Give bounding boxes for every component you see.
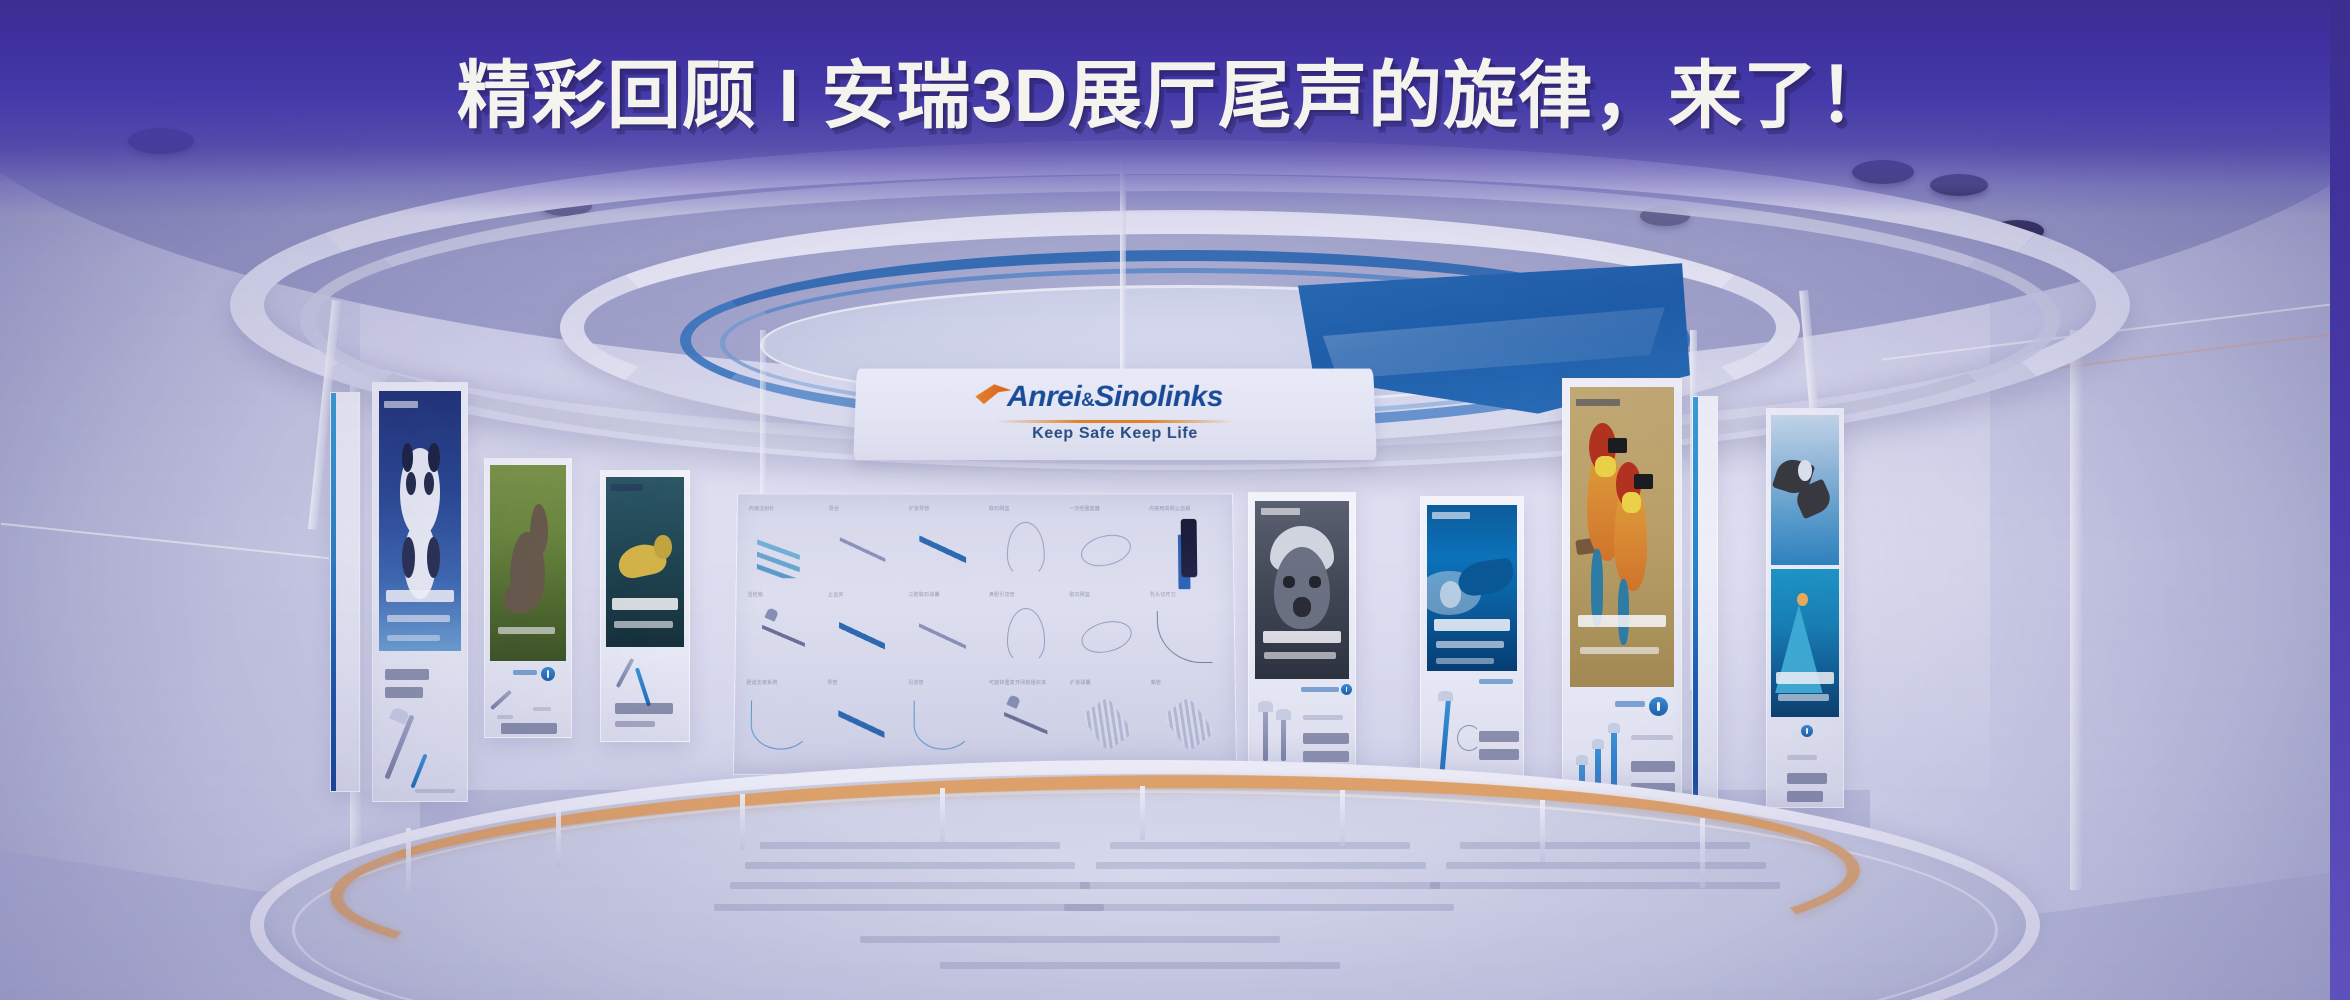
product-cell-art xyxy=(1071,690,1143,761)
poster-footnote xyxy=(497,715,513,719)
rail-post xyxy=(940,788,945,842)
product-cell-art xyxy=(828,602,899,672)
brand-part2: Sinolinks xyxy=(1094,380,1223,413)
bird-tail-icon xyxy=(1618,579,1629,645)
device-art-loop xyxy=(1007,608,1045,664)
poster-caption-line xyxy=(615,703,673,714)
poster-caption-line xyxy=(385,687,423,698)
product-cell[interactable]: 导丝 xyxy=(825,504,904,588)
product-cell[interactable]: 内镜注射针 xyxy=(745,504,824,588)
brand-amp: & xyxy=(1081,390,1094,411)
poster-footnote xyxy=(1631,735,1673,740)
product-cell[interactable]: 三腔取石球囊 xyxy=(905,590,984,675)
poster-artwork-dolphin xyxy=(1427,505,1517,671)
device-art-needles xyxy=(757,522,800,579)
brand-badge-icon[interactable] xyxy=(1801,725,1813,737)
product-instrument xyxy=(384,715,414,780)
panda-eye-icon xyxy=(406,472,416,495)
product-cell[interactable]: 扩张导管 xyxy=(906,504,984,588)
ceiling-spotlight-icon xyxy=(1930,174,1988,196)
brand-badge-icon[interactable] xyxy=(1649,697,1668,716)
poster-title-bar xyxy=(1578,615,1665,627)
bird-beak-icon xyxy=(1608,438,1627,453)
poster-subtitle-bar-2 xyxy=(387,635,440,641)
brand-tagline: Keep Safe Keep Life xyxy=(854,425,1376,443)
poster-panel-eagle[interactable] xyxy=(1766,408,1844,808)
kangaroo-tail-icon xyxy=(504,583,534,614)
product-cell-label: 取石网篮 xyxy=(1069,591,1143,598)
product-instrument-tip xyxy=(1576,755,1588,765)
poster-brand-mark xyxy=(1432,512,1470,519)
product-cell[interactable]: 鞘管 xyxy=(1148,678,1228,764)
poster-panel-kangaroo[interactable] xyxy=(484,458,572,738)
product-display-wall: 内镜注射针导丝扩张导管取石网篮一次性圈套器内镜用高频止血钳活检钳止血夹三腔取石球… xyxy=(733,493,1237,775)
device-art-ellipse xyxy=(1077,530,1133,571)
panda-eye-icon xyxy=(424,472,434,495)
poster-title-bar xyxy=(1776,672,1833,684)
poster-badge-label xyxy=(513,670,537,675)
product-instrument-tip xyxy=(1608,723,1620,733)
poster-subtitle-bar xyxy=(614,621,673,628)
brand-badge-icon[interactable] xyxy=(541,667,555,681)
product-cell-art xyxy=(749,516,820,586)
ocean-foam-icon xyxy=(1440,581,1462,608)
kangaroo-head-icon xyxy=(530,504,548,555)
poster-title-bar xyxy=(1434,619,1510,631)
product-cell[interactable]: 可旋转重复开闭软组织夹 xyxy=(986,678,1065,764)
product-cell-label: 鞘管 xyxy=(1151,679,1225,686)
product-cell-label: 扩张球囊 xyxy=(1070,679,1144,686)
poster-artwork-bee-eaters xyxy=(1570,387,1674,687)
poster-footnote xyxy=(1303,715,1343,720)
rail-post xyxy=(406,828,411,900)
device-art-rod-blue xyxy=(838,609,885,664)
poster-artwork-eagle xyxy=(1771,415,1839,565)
poster-title-bar xyxy=(386,590,455,602)
bird-beak-icon xyxy=(1634,474,1653,489)
poster-caption-line xyxy=(1479,749,1519,760)
sun-icon xyxy=(1797,593,1808,606)
product-cell[interactable]: 鼻胆引流管 xyxy=(986,590,1065,675)
right-edge-bar xyxy=(2330,0,2350,1000)
panda-ear-icon xyxy=(428,443,439,472)
poster-subtitle-bar xyxy=(498,627,556,634)
product-instrument-tip xyxy=(1592,739,1604,749)
bird-throat-icon xyxy=(1595,456,1616,477)
panel-edge-stripe xyxy=(331,393,336,791)
rail-post xyxy=(1540,800,1545,862)
device-art-loop xyxy=(1007,522,1045,578)
page-title: 精彩回顾 I 安瑞3D展厅尾声的旋律，来了！ xyxy=(0,36,2350,143)
wall-pillar xyxy=(2070,330,2084,890)
product-cell[interactable]: 引流管 xyxy=(905,678,984,764)
product-cell-label: 一次性圈套器 xyxy=(1069,505,1142,512)
poster-caption-line xyxy=(501,723,557,734)
product-cell-art xyxy=(910,516,980,586)
device-art-rod xyxy=(919,609,966,664)
poster-badge-label xyxy=(1479,679,1513,684)
device-art-rod xyxy=(839,523,886,577)
poster-subtitle-bar xyxy=(387,615,449,622)
device-art-rod-blue xyxy=(838,697,885,752)
poster-subtitle-bar xyxy=(1580,647,1659,654)
product-cell-art xyxy=(746,690,818,761)
poster-brand-mark xyxy=(611,484,644,491)
poster-artwork-iceberg xyxy=(1771,569,1839,717)
product-cell-label: 内镜用高频止血钳 xyxy=(1149,505,1222,512)
product-cell[interactable]: 导管 xyxy=(823,678,903,764)
device-art-ellipse xyxy=(1078,616,1135,657)
device-art-curve xyxy=(1157,611,1213,663)
product-grid: 内镜注射针导丝扩张导管取石网篮一次性圈套器内镜用高频止血钳活检钳止血夹三腔取石球… xyxy=(742,504,1228,764)
poster-subtitle-bar xyxy=(1436,641,1504,648)
device-art-cannula xyxy=(762,607,805,667)
poster-stand-bee-eaters[interactable] xyxy=(1562,378,1682,848)
poster-artwork-kangaroo xyxy=(490,465,566,661)
ceiling-spotlight-icon xyxy=(1852,160,1914,184)
rail-post xyxy=(1140,786,1145,840)
product-cell[interactable]: 止血夹 xyxy=(824,590,903,675)
product-cell[interactable]: 乳头切开刀 xyxy=(1147,590,1227,675)
product-cell-label: 取石网篮 xyxy=(989,505,1062,512)
gecko-head-icon xyxy=(654,535,671,559)
poster-footnote xyxy=(1787,755,1817,760)
product-cell-label: 导管 xyxy=(827,679,901,686)
product-cell-label: 胆道支架系统 xyxy=(746,679,820,686)
device-art-screw xyxy=(1162,697,1214,752)
product-instrument-tip xyxy=(1258,701,1273,712)
brand-wordmark: Anrei&Sinolinks xyxy=(855,380,1375,414)
rail-post xyxy=(1700,818,1705,888)
poster-caption-line xyxy=(1787,791,1823,802)
product-cell[interactable]: 内镜用高频止血钳 xyxy=(1146,504,1225,588)
product-cell-art xyxy=(990,690,1061,761)
poster-subtitle-bar xyxy=(1778,694,1830,701)
device-art-scurve xyxy=(913,700,973,750)
poster-stand-panda[interactable] xyxy=(372,382,468,802)
poster-caption-line xyxy=(1631,761,1675,772)
product-cell-art xyxy=(1151,602,1223,672)
product-cell-art xyxy=(1152,690,1224,761)
rail-post xyxy=(740,794,745,850)
product-instrument xyxy=(490,690,512,710)
product-cell-label: 扩张导管 xyxy=(909,505,982,512)
rail-post xyxy=(1340,790,1345,846)
product-cell[interactable]: 取石网篮 xyxy=(1066,590,1145,675)
poster-subtitle-bar xyxy=(1264,652,1335,659)
product-cell-label: 三腔取石球囊 xyxy=(908,591,982,598)
product-instrument-tip xyxy=(1276,709,1291,720)
poster-artwork-panda xyxy=(379,391,461,651)
product-cell-label: 乳头切开刀 xyxy=(1150,591,1224,598)
brand-part1: Anrei xyxy=(1007,380,1081,413)
product-cell[interactable]: 扩张球囊 xyxy=(1067,678,1147,764)
product-cell-label: 导丝 xyxy=(829,505,902,512)
logo-underline xyxy=(995,420,1235,423)
badger-eye-icon xyxy=(1309,576,1321,588)
product-cell-label: 活检钳 xyxy=(747,591,821,598)
device-art-screw xyxy=(1081,697,1133,752)
product-cell-art xyxy=(990,516,1060,586)
poster-panel-edge-right[interactable] xyxy=(1692,396,1718,826)
exhibition-hall-banner: Anrei&Sinolinks Keep Safe Keep Life 内镜注射… xyxy=(0,0,2350,1000)
panel-edge-stripe xyxy=(1693,397,1698,825)
product-loop-icon xyxy=(1457,725,1481,751)
poster-caption-line xyxy=(615,721,655,727)
product-cell-label: 引流管 xyxy=(908,679,982,686)
poster-caption-line xyxy=(1303,751,1349,762)
product-cell-label: 内镜注射针 xyxy=(749,505,822,512)
product-cell[interactable]: 取石网篮 xyxy=(986,504,1064,588)
product-cell[interactable]: 胆道支架系统 xyxy=(742,678,822,764)
panda-arm-icon xyxy=(402,537,415,579)
product-cell[interactable]: 活检钳 xyxy=(743,590,823,675)
poster-brand-mark xyxy=(1261,508,1300,515)
poster-title-bar xyxy=(1263,631,1342,643)
brand-badge-icon[interactable] xyxy=(1341,684,1352,695)
device-art-rod-blue xyxy=(919,523,966,577)
bird-throat-icon xyxy=(1622,492,1641,513)
poster-footnote xyxy=(533,707,551,711)
product-cell-art xyxy=(1071,602,1142,672)
product-instrument-tip xyxy=(1438,691,1453,701)
product-cell-art xyxy=(827,690,899,761)
poster-badge-label xyxy=(1301,687,1339,692)
product-cell-label: 鼻胆引流管 xyxy=(989,591,1063,598)
poster-artwork-honey-badger xyxy=(1255,501,1349,679)
device-art-cannula xyxy=(1004,694,1047,755)
dolphin-body-icon xyxy=(1456,558,1516,599)
product-cell-art xyxy=(990,602,1061,672)
badger-eye-icon xyxy=(1283,576,1295,588)
rail-post xyxy=(556,806,561,868)
product-instrument xyxy=(1440,695,1452,771)
product-cell-label: 可旋转重复开闭软组织夹 xyxy=(989,679,1063,686)
product-cell[interactable]: 一次性圈套器 xyxy=(1066,504,1145,588)
poster-brand-mark xyxy=(384,401,418,408)
product-cell-art xyxy=(829,516,900,586)
poster-footnote xyxy=(415,789,455,793)
product-instrument xyxy=(616,658,635,688)
product-instrument xyxy=(635,667,651,706)
ring-support-spoke xyxy=(1120,160,1126,400)
badger-snout-icon xyxy=(1293,597,1312,617)
panda-arm-icon xyxy=(427,537,440,579)
poster-subtitle-bar-2 xyxy=(1436,658,1494,664)
brand-logo-banner: Anrei&Sinolinks Keep Safe Keep Life xyxy=(853,369,1377,461)
poster-panel-honey-badger[interactable] xyxy=(1248,492,1356,782)
poster-caption-line xyxy=(385,669,429,680)
product-instrument xyxy=(1281,713,1286,761)
poster-panel-gecko[interactable] xyxy=(600,470,690,742)
poster-caption-line xyxy=(1787,773,1827,784)
device-art-handle xyxy=(1181,519,1197,577)
product-cell-art xyxy=(1150,516,1221,586)
product-cell-art xyxy=(909,602,980,672)
product-cell-label: 止血夹 xyxy=(828,591,902,598)
poster-caption-line xyxy=(1303,733,1349,744)
device-art-scurve xyxy=(751,700,811,750)
product-cell-art xyxy=(909,690,980,761)
product-cell-art xyxy=(1070,516,1141,586)
poster-artwork-gecko xyxy=(606,477,684,647)
product-instrument xyxy=(1263,705,1268,761)
poster-badge-label xyxy=(1615,701,1645,707)
product-cell-art xyxy=(747,602,819,672)
poster-panel-dolphin[interactable] xyxy=(1420,496,1524,782)
poster-panel-edge-left[interactable] xyxy=(330,392,360,792)
poster-brand-mark xyxy=(1576,399,1620,406)
eagle-head-icon xyxy=(1798,460,1812,481)
poster-title-bar xyxy=(612,598,678,610)
product-instrument xyxy=(410,754,427,789)
poster-caption-line xyxy=(1479,731,1519,742)
